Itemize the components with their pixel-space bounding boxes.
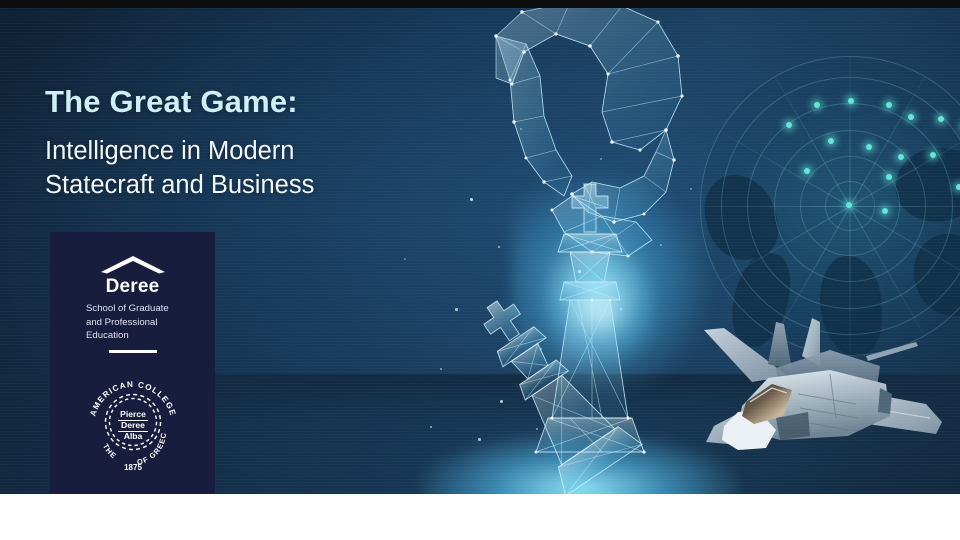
svg-text:THE: THE — [101, 442, 119, 461]
brand-tagline: School of Graduate and Professional Educ… — [86, 302, 201, 343]
seal-inner-line-3: Alba — [123, 431, 142, 441]
seal-year: 1875 — [124, 463, 142, 472]
chevron-roof-icon — [99, 254, 167, 274]
radar-blip — [786, 122, 792, 128]
king-core-glow — [540, 250, 660, 370]
radar-blip — [956, 184, 960, 190]
radar-blip — [846, 202, 852, 208]
logo-divider — [109, 350, 157, 353]
radar-blip — [886, 174, 892, 180]
radar-blip — [828, 138, 834, 144]
logo-panel: Deree School of Graduate and Professiona… — [50, 232, 215, 494]
radar-blip — [814, 102, 820, 108]
radar-blip — [930, 152, 936, 158]
radar-blip — [848, 98, 854, 104]
page-subtitle: Intelligence in Modern Statecraft and Bu… — [45, 134, 445, 202]
radar-blip — [898, 154, 904, 160]
slide-screenshot: The Great Game: Intelligence in Modern S… — [0, 0, 960, 540]
brand-name: Deree — [50, 276, 215, 298]
radar-blip — [866, 144, 872, 150]
seal-outer-text-bottom: THE — [101, 442, 119, 461]
brand-tagline-line-3: Education — [86, 329, 201, 343]
seal-inner-line-2: Deree — [121, 420, 145, 430]
presentation-slide: The Great Game: Intelligence in Modern S… — [0, 8, 960, 494]
radar-blip — [938, 116, 944, 122]
seal-inner-line-1: Pierce — [120, 409, 146, 419]
college-seal-icon: AMERICAN COLLEGE THE OF GREECE Pierce De… — [78, 366, 188, 476]
letterbox-bottom — [0, 494, 960, 540]
subtitle-line-1: Intelligence in Modern — [45, 134, 445, 168]
radar-blip — [804, 168, 810, 174]
subtitle-line-2: Statecraft and Business — [45, 168, 445, 202]
radar-blip — [908, 114, 914, 120]
brand-tagline-line-1: School of Graduate — [86, 302, 201, 316]
radar-blip — [886, 102, 892, 108]
radar-blip — [882, 208, 888, 214]
letterbox-top — [0, 0, 960, 8]
page-title: The Great Game: — [45, 84, 465, 120]
stealth-fighter-jet-icon — [680, 308, 960, 484]
brand-tagline-line-2: and Professional — [86, 316, 201, 330]
